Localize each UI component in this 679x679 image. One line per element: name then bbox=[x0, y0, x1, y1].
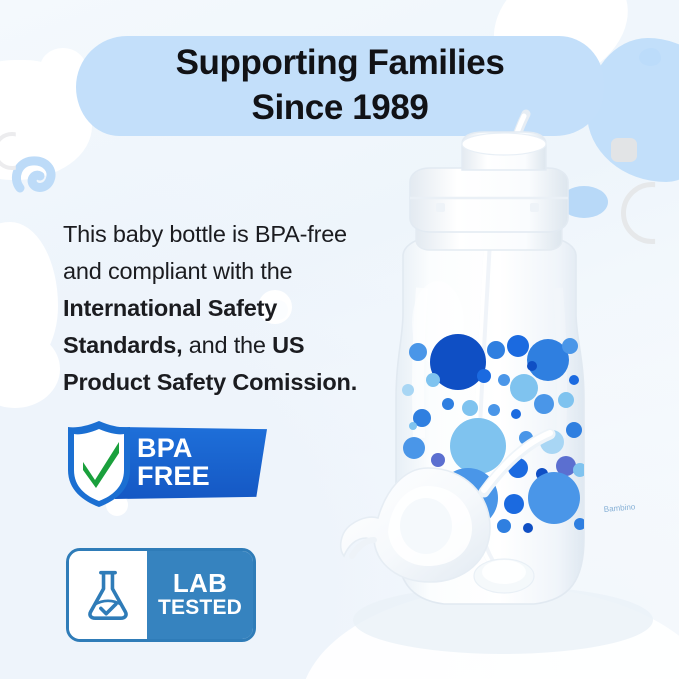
copy-line-4-plain: and the bbox=[182, 332, 272, 358]
blue-blob-decoration-small bbox=[639, 48, 661, 66]
swirl-decoration bbox=[8, 148, 70, 210]
product-brand-caption: Bambino bbox=[603, 502, 636, 514]
headline-line-1: Supporting Families bbox=[176, 41, 505, 86]
bpa-free-label-banner: BPA FREE bbox=[115, 427, 267, 499]
gray-arc-decoration bbox=[0, 132, 31, 170]
lab-tested-line-1: LAB bbox=[173, 570, 227, 596]
product-image-baby-bottle: Bambino bbox=[318, 108, 679, 679]
copy-line-1: This baby bottle is BPA-free bbox=[63, 221, 347, 247]
copy-line-5-bold: Product Safety Comission. bbox=[63, 369, 357, 395]
promo-graphic: Supporting Families Since 1989 This baby… bbox=[0, 0, 679, 679]
white-blob-decoration bbox=[0, 330, 60, 408]
copy-line-3-bold: International Safety bbox=[63, 295, 277, 321]
flask-check-icon bbox=[69, 551, 147, 639]
lab-tested-line-2: TESTED bbox=[158, 596, 242, 620]
badge-bpa-free: BPA FREE bbox=[63, 418, 263, 510]
shield-check-icon bbox=[63, 418, 135, 510]
copy-line-4-bold: Standards, bbox=[63, 332, 182, 358]
badge-lab-tested: LAB TESTED bbox=[66, 548, 256, 642]
bpa-free-line-2: FREE bbox=[137, 463, 210, 491]
copy-line-2: and compliant with the bbox=[63, 258, 292, 284]
copy-line-4-us: US bbox=[272, 332, 304, 358]
lab-tested-label-panel: LAB TESTED bbox=[147, 551, 253, 639]
white-blob-decoration bbox=[0, 222, 58, 372]
bpa-free-line-1: BPA bbox=[137, 435, 193, 463]
